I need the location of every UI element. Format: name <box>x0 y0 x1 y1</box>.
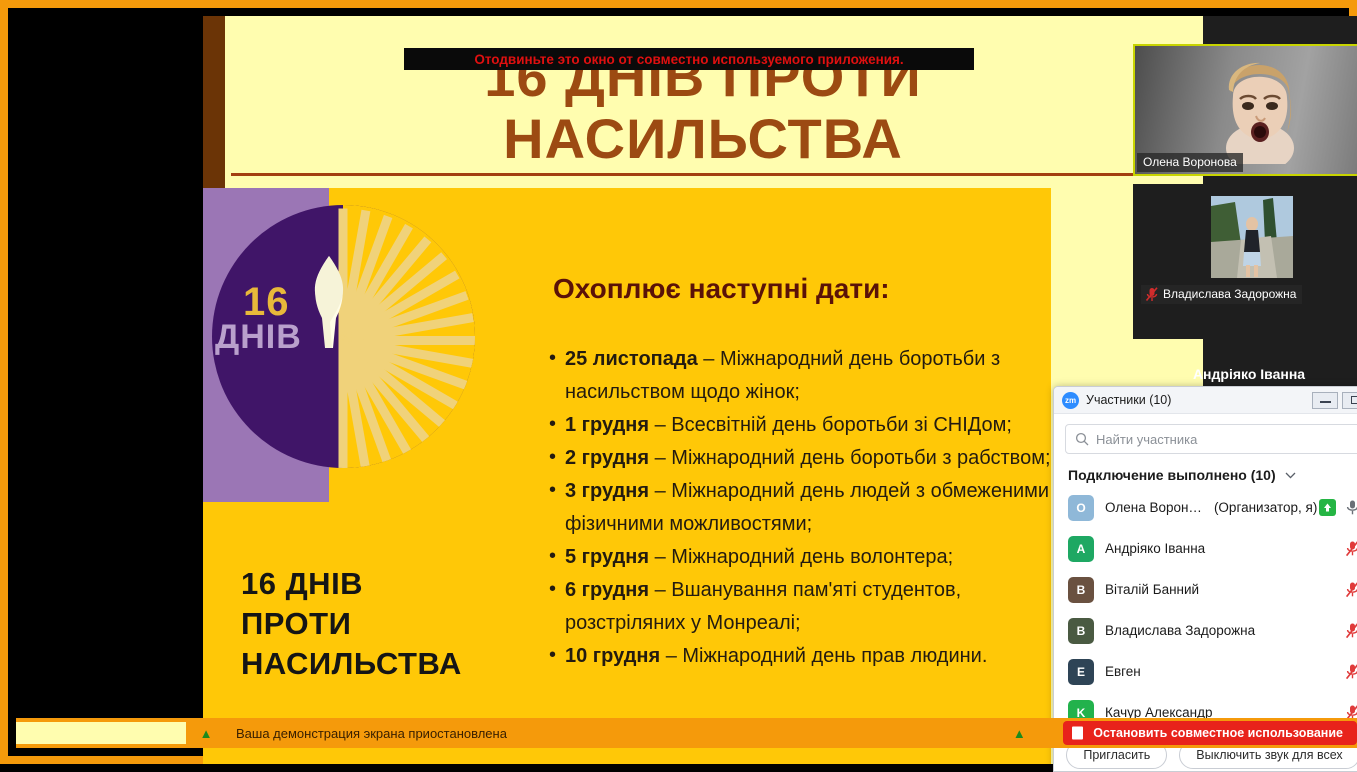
search-placeholder: Найти участника <box>1096 432 1197 447</box>
participants-section-label: Подключение выполнено (10) <box>1068 467 1276 483</box>
search-icon <box>1075 432 1089 446</box>
video-tile-name-only: Андріяко Іванна <box>1133 366 1357 382</box>
date-label: 6 грудня <box>565 579 649 601</box>
date-list-item: 5 грудня – Міжнародний день волонтера; <box>549 541 1069 574</box>
avatar: О <box>1068 495 1094 521</box>
video-tile-name-muted: Владислава Задорожна <box>1141 285 1302 304</box>
date-label: 2 грудня <box>565 447 649 469</box>
move-window-warning-banner: Отодвиньте это окно от совместно использ… <box>404 48 974 70</box>
avatar: E <box>1068 659 1094 685</box>
participants-panel-title: Участники (10) <box>1086 393 1308 407</box>
poster-image: 16 ДНІВ 16 ДНІВ ПРОТИ НАСИЛЬСТВА Охоплює… <box>203 188 1051 764</box>
participants-titlebar[interactable]: zm Участники (10) <box>1054 387 1357 414</box>
share-toolbar-slide-edge <box>16 722 186 744</box>
participant-row[interactable]: ООлена Ворон…(Организатор, я) <box>1054 487 1357 528</box>
chevron-down-icon[interactable] <box>1285 472 1296 479</box>
poster-caption: 16 ДНІВ ПРОТИ НАСИЛЬСТВА <box>241 564 462 684</box>
stop-share-button[interactable]: Остановить совместное использование <box>1063 721 1357 745</box>
poster-ray <box>339 341 348 469</box>
maximize-button[interactable] <box>1342 392 1357 409</box>
date-list-item: 1 грудня – Всесвітній день боротьби зі С… <box>549 409 1069 442</box>
mic-on-icon[interactable] <box>1345 499 1357 516</box>
date-label: 10 грудня <box>565 645 660 667</box>
participant-row[interactable]: EЕвген <box>1054 651 1357 692</box>
mic-off-icon[interactable] <box>1345 540 1357 557</box>
date-label: 3 грудня <box>565 480 649 502</box>
participant-name: Віталій Банний <box>1105 582 1199 597</box>
slide-title-rule <box>231 173 1167 176</box>
dates-heading: Охоплює наступні дати: <box>553 273 890 305</box>
participants-list: ООлена Ворон…(Организатор, я)AАндріяко І… <box>1054 487 1357 733</box>
annotate-icon[interactable]: ▲ <box>1009 726 1029 741</box>
participant-name: Олена Ворон… <box>1105 500 1202 515</box>
screen-share-badge <box>1319 499 1336 516</box>
video-tile-active-speaker[interactable]: Олена Воронова <box>1133 44 1357 176</box>
avatar: В <box>1068 618 1094 644</box>
participant-row[interactable]: AАндріяко Іванна <box>1054 528 1357 569</box>
mic-off-icon[interactable] <box>1345 581 1357 598</box>
screen-share-frame: 16 ДНІВ ПРОТИ НАСИЛЬСТВА 16 ДНІВ 16 ДНІВ… <box>0 0 1357 764</box>
participant-photo <box>1211 196 1293 278</box>
date-list-item: 3 грудня – Міжнародний день людей з обме… <box>549 475 1069 541</box>
date-list-item: 25 листопада – Міжнародний день боротьби… <box>549 343 1069 409</box>
mic-off-icon[interactable] <box>1345 663 1357 680</box>
search-participant-input[interactable]: Найти участника <box>1065 424 1357 454</box>
participants-section-header[interactable]: Подключение выполнено (10) <box>1068 467 1357 483</box>
date-list-item: 6 грудня – Вшанування пам'яті студентов,… <box>549 574 1069 640</box>
slide-decor-bar-brown <box>203 16 225 188</box>
mic-off-icon[interactable] <box>1345 622 1357 639</box>
participant-name: Владислава Задорожна <box>1105 623 1255 638</box>
video-tile-avatar[interactable]: Владислава Задорожна <box>1133 184 1357 339</box>
poster-badge-word: ДНІВ <box>215 318 302 357</box>
date-label: 25 листопада <box>565 348 698 370</box>
share-paused-text: Ваша демонстрация экрана приостановлена <box>236 726 507 741</box>
avatar: A <box>1068 536 1094 562</box>
zoom-logo-icon: zm <box>1062 392 1079 409</box>
awareness-ribbon-icon <box>306 248 352 353</box>
participant-role: (Организатор, я) <box>1214 500 1317 515</box>
participant-name: Андріяко Іванна <box>1105 541 1205 556</box>
date-list-item: 10 грудня – Міжнародний день прав людини… <box>549 640 1069 673</box>
date-list-item: 2 грудня – Міжнародний день боротьби з р… <box>549 442 1069 475</box>
video-tile-name: Олена Воронова <box>1137 153 1243 172</box>
participant-row[interactable]: ВВіталій Банний <box>1054 569 1357 610</box>
dates-list: 25 листопада – Міжнародний день боротьби… <box>549 343 1069 673</box>
participant-name: Евген <box>1105 664 1141 679</box>
mic-off-icon <box>1145 287 1159 302</box>
avatar: В <box>1068 577 1094 603</box>
participant-row[interactable]: ВВладислава Задорожна <box>1054 610 1357 651</box>
speaker-portrait <box>1223 60 1297 164</box>
participants-panel: zm Участники (10) Найти участника Подклю… <box>1053 386 1357 772</box>
date-label: 1 грудня <box>565 414 649 436</box>
minimize-button[interactable] <box>1312 392 1338 409</box>
date-label: 5 грудня <box>565 546 649 568</box>
share-arrow-icon[interactable]: ▲ <box>196 726 216 741</box>
screen-share-toolbar: ▲ Ваша демонстрация экрана приостановлен… <box>16 718 1357 748</box>
